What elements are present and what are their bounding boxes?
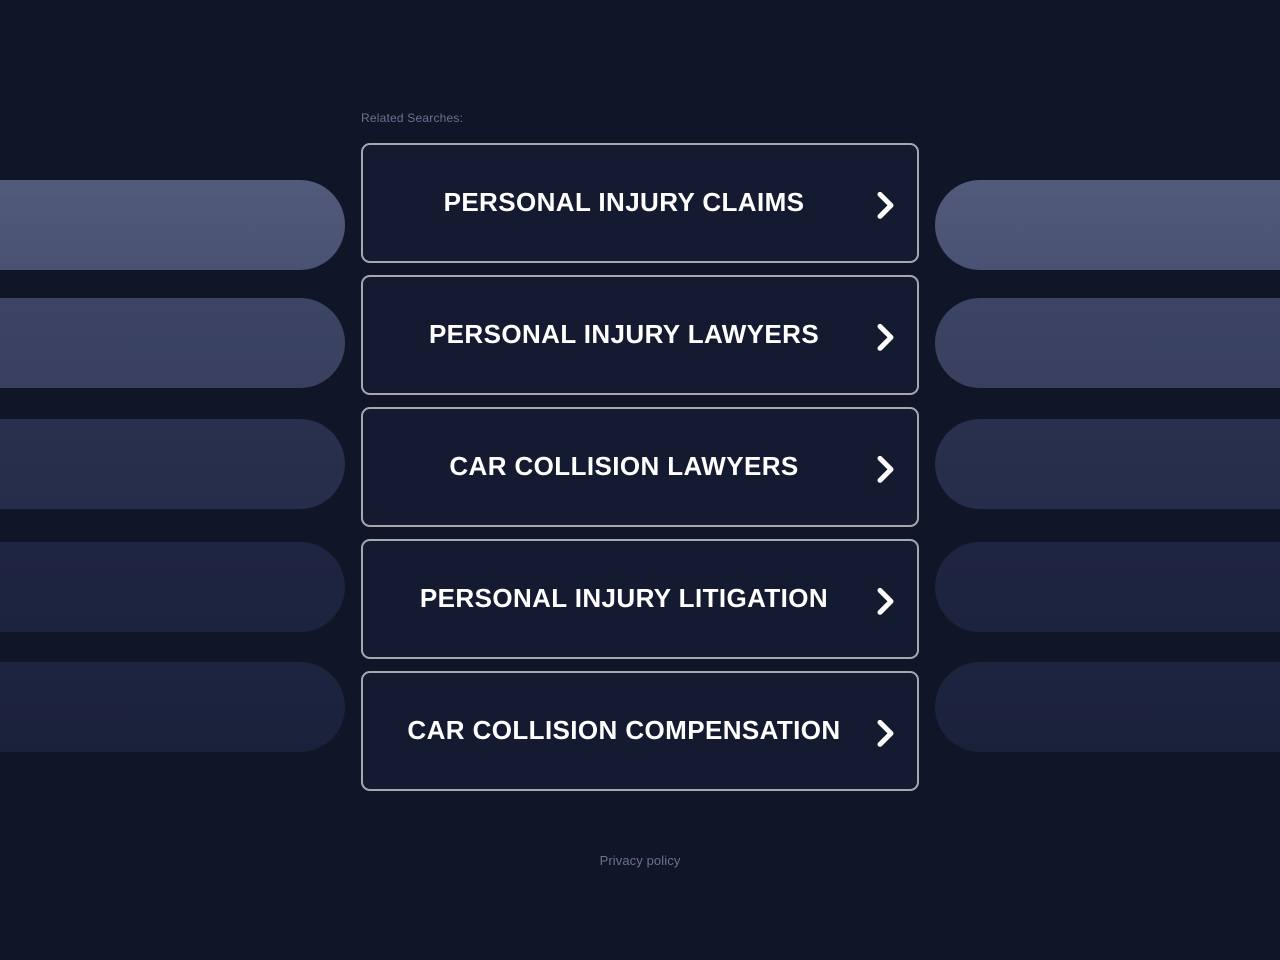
- related-search-label: Personal Injury Lawyers: [429, 320, 819, 350]
- list-item: Personal Injury Litigation: [361, 539, 919, 659]
- related-search-label: Personal Injury Claims: [444, 188, 805, 218]
- list-item: Car Collision Lawyers: [361, 407, 919, 527]
- related-search-button-3[interactable]: Car Collision Lawyers: [361, 407, 919, 527]
- page-root: Related Searches: Personal Injury Claims…: [0, 0, 1280, 960]
- related-searches-list: Personal Injury ClaimsPersonal Injury La…: [361, 143, 919, 791]
- list-item: Personal Injury Lawyers: [361, 275, 919, 395]
- privacy-policy-link[interactable]: Privacy policy: [600, 853, 681, 868]
- related-search-label: Car Collision Compensation: [407, 716, 840, 746]
- chevron-right-icon: [875, 718, 897, 748]
- related-search-button-5[interactable]: Car Collision Compensation: [361, 671, 919, 791]
- chevron-right-icon: [875, 586, 897, 616]
- related-search-button-4[interactable]: Personal Injury Litigation: [361, 539, 919, 659]
- list-item: Car Collision Compensation: [361, 671, 919, 791]
- footer: Privacy policy: [0, 852, 1280, 870]
- chevron-right-icon: [875, 322, 897, 352]
- related-search-label: Car Collision Lawyers: [449, 452, 798, 482]
- chevron-right-icon: [875, 190, 897, 220]
- list-item: Personal Injury Claims: [361, 143, 919, 263]
- chevron-right-icon: [875, 454, 897, 484]
- related-search-button-2[interactable]: Personal Injury Lawyers: [361, 275, 919, 395]
- related-search-button-1[interactable]: Personal Injury Claims: [361, 143, 919, 263]
- related-search-label: Personal Injury Litigation: [420, 584, 828, 614]
- related-searches-label: Related Searches:: [361, 110, 463, 126]
